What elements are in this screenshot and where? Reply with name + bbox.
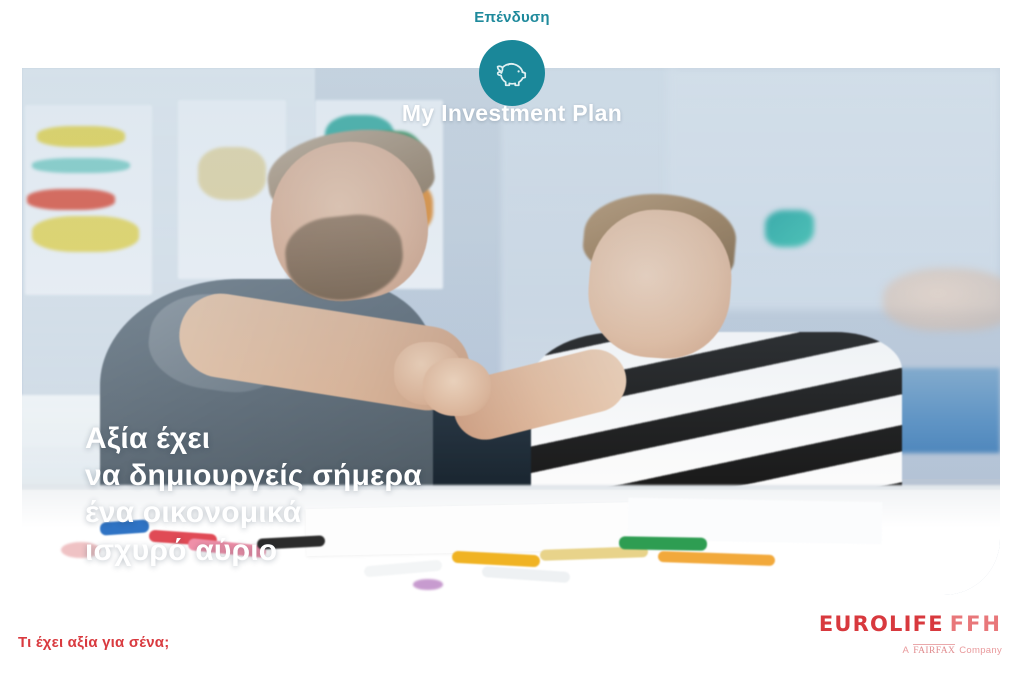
eurolife-logo: EUROLIFEFFH A FAIRFAX Company [819, 614, 1002, 656]
kicker-label: Επένδυση [0, 9, 1024, 26]
piggy-bank-badge [479, 40, 545, 106]
slide-root: Επένδυση My Investment Plan [0, 0, 1024, 682]
logo-tagline-brand: FAIRFAX [913, 644, 955, 656]
hero-banner-image: Αξία έχει να δημιουργείς σήμερα ένα οικο… [22, 68, 1000, 595]
hero-headline: Αξία έχει να δημιουργείς σήμερα ένα οικο… [85, 420, 422, 569]
logo-tagline: A FAIRFAX Company [819, 644, 1002, 656]
logo-brand-text: EUROLIFE [819, 612, 944, 636]
logo-suffix-text: FFH [950, 612, 1002, 636]
piggy-bank-icon [493, 57, 531, 89]
plan-title: My Investment Plan [0, 100, 1024, 127]
footer-question: Τι έχει αξία για σένα; [18, 634, 169, 651]
logo-tagline-suffix: Company [959, 645, 1002, 656]
logo-wordmark: EUROLIFEFFH [819, 614, 1002, 635]
logo-tagline-prefix: A [903, 645, 910, 656]
